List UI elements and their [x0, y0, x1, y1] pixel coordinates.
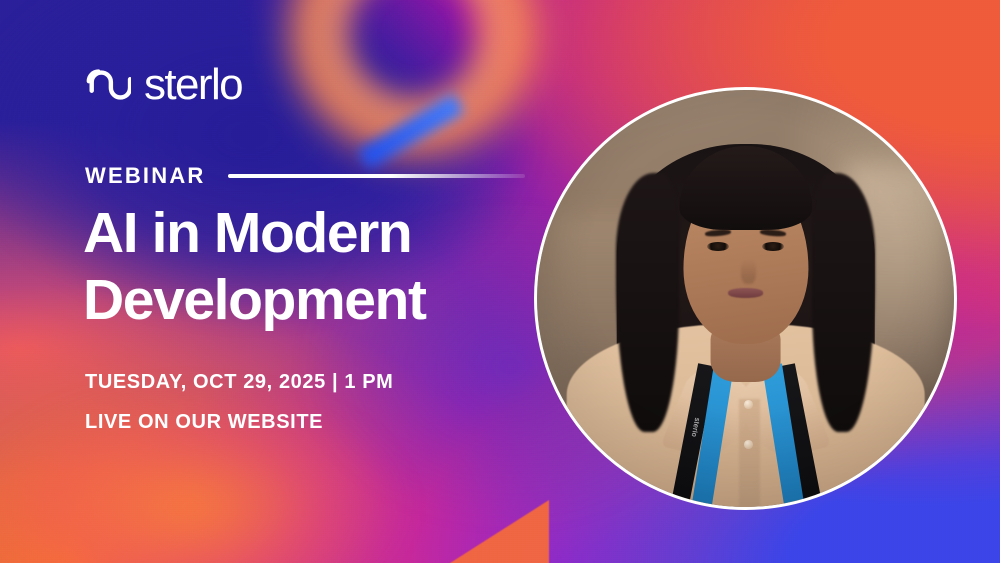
page-title: AI in Modern Development — [83, 200, 553, 333]
webinar-promo-poster: sterlo WEBINAR AI in Modern Development … — [0, 0, 1000, 563]
sterlo-interlocking-s-icon — [85, 62, 131, 108]
eyebrow-row: WEBINAR — [85, 163, 525, 189]
headline-line-1: AI in Modern — [83, 201, 411, 265]
portrait-vignette — [537, 90, 954, 507]
brand-name: sterlo — [144, 63, 242, 107]
event-datetime: TUESDAY, OCT 29, 2025 | 1 PM — [85, 372, 393, 392]
event-details: TUESDAY, OCT 29, 2025 | 1 PM LIVE ON OUR… — [85, 372, 393, 432]
eyebrow-divider — [228, 174, 525, 178]
brand-logo: sterlo — [85, 62, 242, 108]
portrait-scene: sterlo — [537, 90, 954, 507]
eyebrow-label: WEBINAR — [85, 163, 206, 189]
headline-line-2: Development — [83, 267, 553, 334]
event-location: LIVE ON OUR WEBSITE — [85, 412, 393, 432]
speaker-portrait: sterlo — [534, 87, 957, 510]
